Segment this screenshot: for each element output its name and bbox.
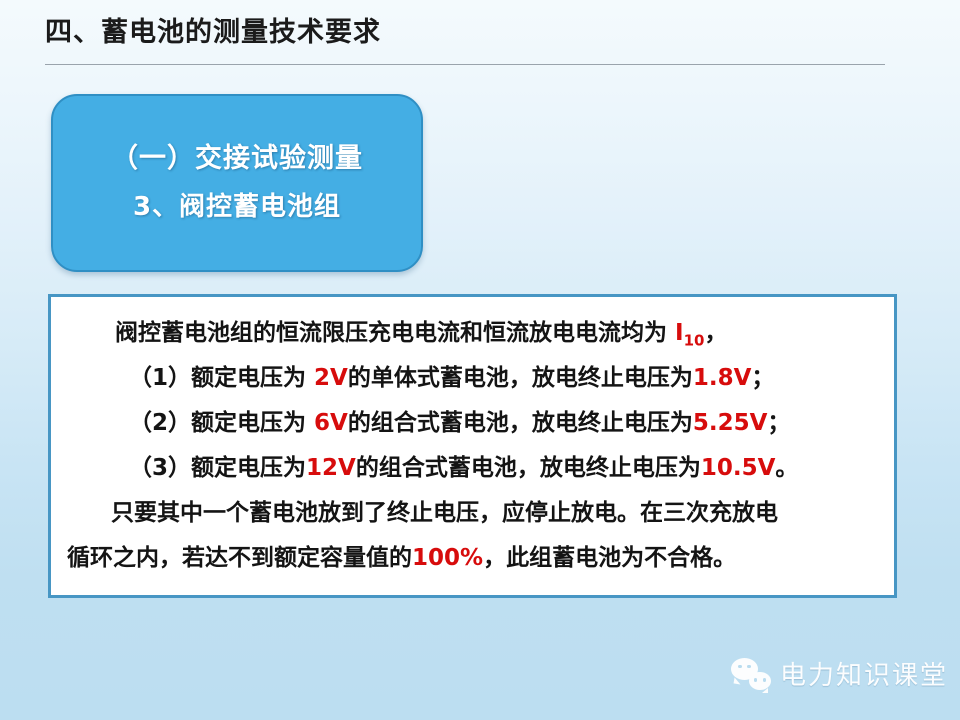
body-text: ； (767, 410, 790, 436)
content-line: （2）额定电压为 6V的组合式蓄电池，放电终止电压为5.25V； (67, 401, 878, 446)
body-text: ，此组蓄电池为不合格。 (483, 545, 736, 571)
body-text: 的组合式蓄电池，放电终止电压为 (348, 410, 693, 436)
body-text: 。 (775, 455, 798, 481)
highlight-value: I (675, 320, 684, 346)
brand-name: 电力知识课堂 (780, 655, 948, 692)
content-line: 循环之内，若达不到额定容量值的100%，此组蓄电池为不合格。 (67, 536, 878, 581)
body-text: 的组合式蓄电池，放电终止电压为 (356, 455, 701, 481)
highlight-value: 1.8V (693, 365, 752, 391)
content-line: （1）额定电压为 2V的单体式蓄电池，放电终止电压为1.8V； (67, 356, 878, 401)
body-text: 只要其中一个蓄电池放到了终止电压，应停止放电。在三次充放电 (111, 500, 778, 526)
body-text: （2）额定电压为 (129, 410, 314, 436)
content-panel: 阀控蓄电池组的恒流限压充电电流和恒流放电电流均为 I10，（1）额定电压为 2V… (48, 294, 897, 598)
brand-watermark: 电力知识课堂 (731, 655, 948, 692)
content-line: （3）额定电压为12V的组合式蓄电池，放电终止电压为10.5V。 (67, 446, 878, 491)
body-text: 阀控蓄电池组的恒流限压充电电流和恒流放电电流均为 (115, 320, 675, 346)
page-title: 四、蓄电池的测量技术要求 (45, 14, 890, 52)
highlight-value: 12V (306, 455, 356, 481)
content-line: 只要其中一个蓄电池放到了终止电压，应停止放电。在三次充放电 (67, 491, 878, 536)
title-block: 四、蓄电池的测量技术要求 (45, 14, 890, 52)
body-text: 的单体式蓄电池，放电终止电压为 (348, 365, 693, 391)
highlight-value: 5.25V (693, 410, 768, 436)
body-text: （1）额定电压为 (129, 365, 314, 391)
highlight-subscript: 10 (684, 332, 705, 350)
wechat-icon (731, 658, 771, 690)
highlight-value: 6V (314, 410, 348, 436)
highlight-value: 2V (314, 365, 348, 391)
slide-canvas: 四、蓄电池的测量技术要求 （一）交接试验测量 3、阀控蓄电池组 阀控蓄电池组的恒… (0, 0, 960, 720)
body-text: ， (704, 320, 727, 346)
body-text: ； (751, 365, 774, 391)
section-heading-line-2: 3、阀控蓄电池组 (133, 183, 341, 231)
highlight-value: 100% (412, 545, 483, 571)
body-text: 循环之内，若达不到额定容量值的 (67, 545, 412, 571)
section-heading-box: （一）交接试验测量 3、阀控蓄电池组 (51, 94, 423, 272)
content-line: 阀控蓄电池组的恒流限压充电电流和恒流放电电流均为 I10， (67, 311, 878, 356)
highlight-value: 10.5V (701, 455, 776, 481)
title-divider (45, 64, 885, 65)
section-heading-line-1: （一）交接试验测量 (111, 135, 363, 183)
body-text: （3）额定电压为 (129, 455, 306, 481)
